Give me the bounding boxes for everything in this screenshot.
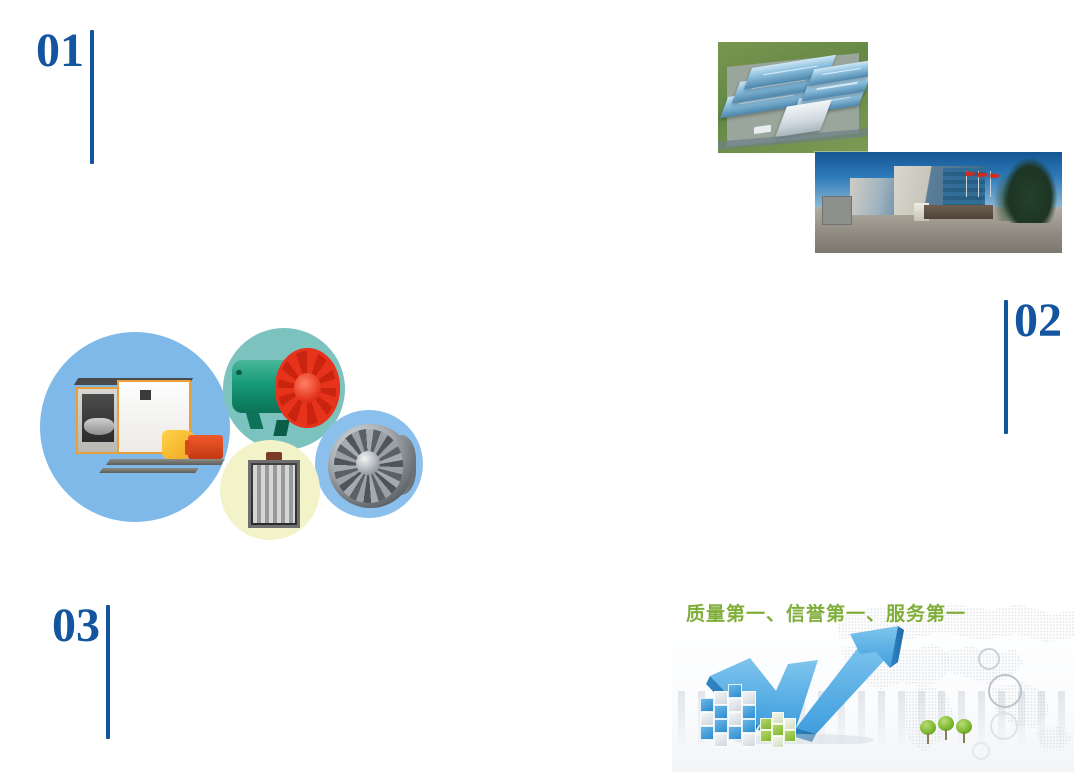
- tree-1: [920, 720, 936, 744]
- office-building-image: [815, 152, 1062, 253]
- section-number-03: 03: [52, 602, 100, 650]
- stainless-jet-fan-image: [328, 420, 420, 512]
- section-marker-01: 01: [36, 27, 94, 164]
- photo-tree-right: [1003, 158, 1057, 223]
- axial-fan-foot-2: [273, 420, 290, 436]
- product-collage: [30, 320, 430, 560]
- section-marker-02: 02: [1004, 297, 1062, 434]
- photo-low-wall: [924, 205, 993, 219]
- photo-side-building: [850, 178, 899, 214]
- axial-fan-hub: [294, 373, 321, 404]
- blower-base-rail-1: [106, 459, 225, 465]
- promo-slogan-text: 质量第一、信誉第一、服务第一: [686, 602, 966, 626]
- photo-gate-house: [822, 196, 851, 224]
- promo-banner: 质量第一、信誉第一、服务第一: [672, 596, 1074, 772]
- blower-control-box: [140, 390, 151, 401]
- damper-louvers: [253, 465, 295, 522]
- section-number-01: 01: [36, 27, 84, 75]
- green-cube-stack-icon: [760, 708, 800, 746]
- section-rule-03: [106, 605, 110, 739]
- section-rule-01: [90, 30, 94, 164]
- factory-aerial-image: [718, 42, 868, 153]
- axial-fan-foot-1: [245, 411, 264, 429]
- section-number-02: 02: [1014, 297, 1062, 345]
- page-canvas: 01 02 03: [0, 0, 1074, 772]
- jetfan-nose-cone: [356, 451, 380, 475]
- fire-damper-image: [248, 460, 300, 528]
- bubble-circles-icon: [960, 630, 1030, 760]
- section-marker-03: 03: [52, 602, 110, 739]
- blower-impeller: [84, 418, 114, 435]
- blue-cube-stack-icon: [700, 684, 766, 746]
- axial-flow-fan-image: [230, 338, 342, 440]
- blower-base-rail-2: [100, 468, 199, 473]
- tree-2: [938, 716, 954, 740]
- section-rule-02: [1004, 300, 1008, 434]
- blower-motor: [188, 435, 223, 459]
- cabinet-centrifugal-blower-image: [66, 368, 226, 488]
